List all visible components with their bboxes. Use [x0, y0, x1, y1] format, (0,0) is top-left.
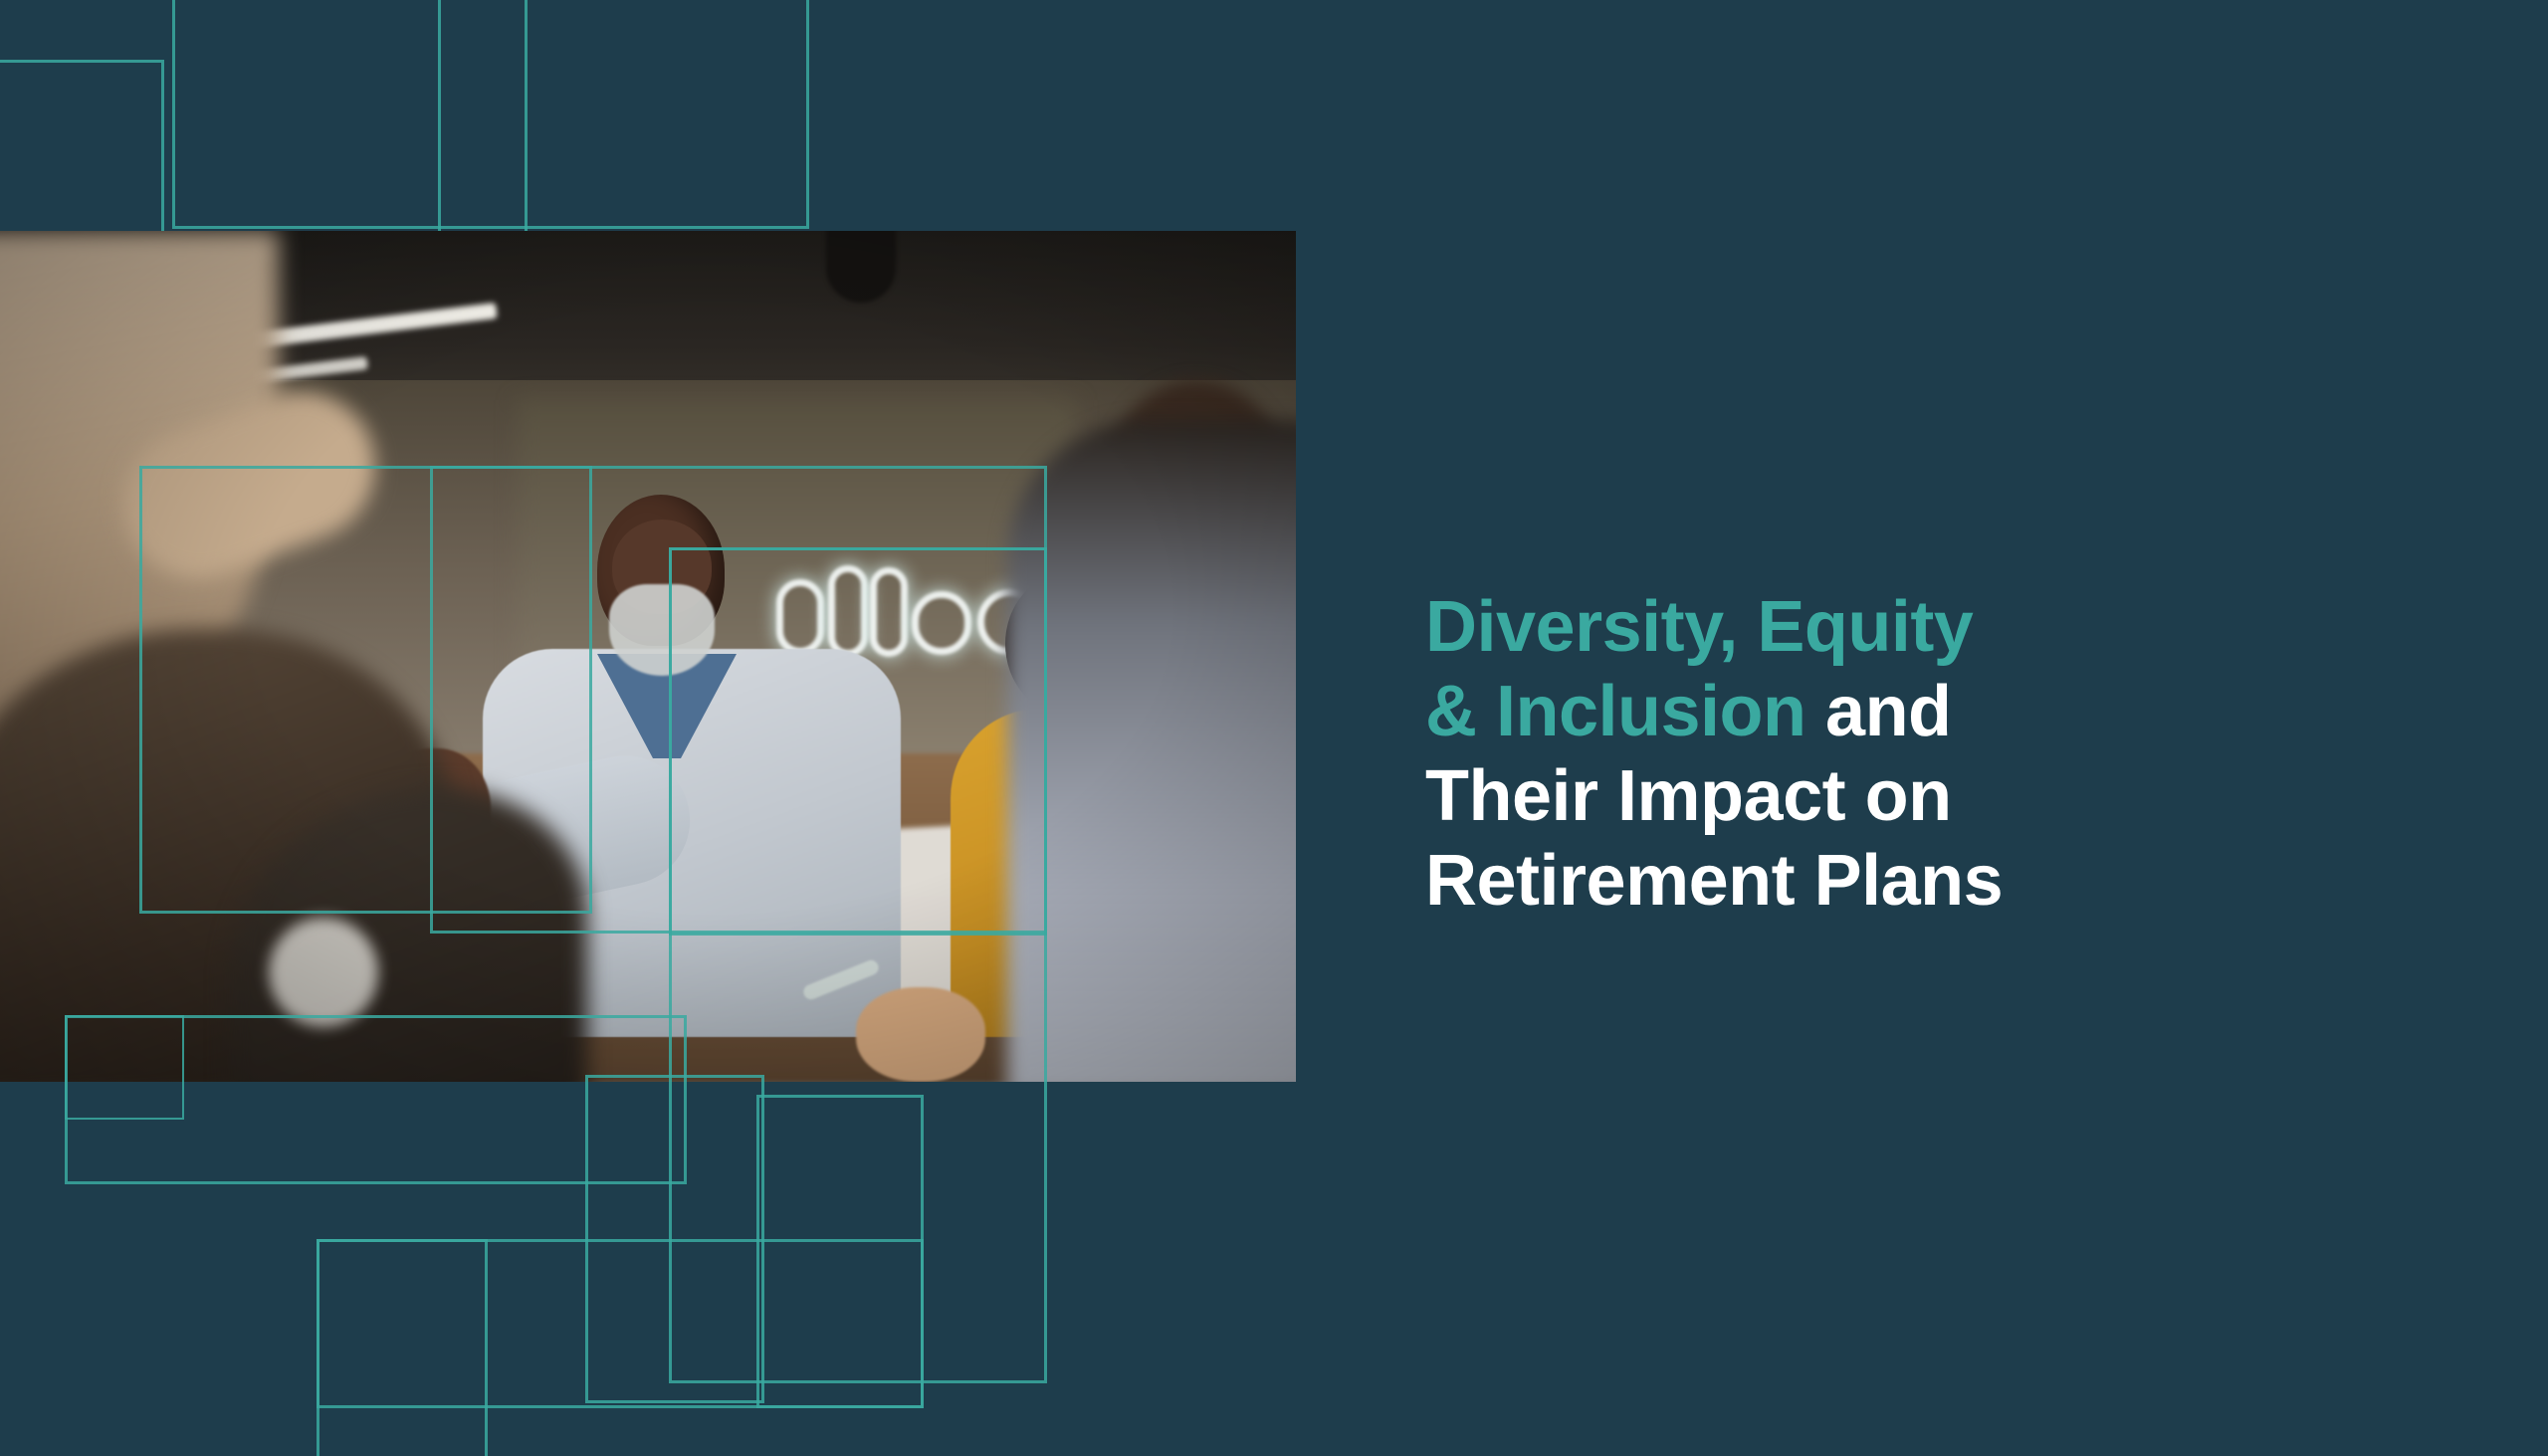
decorative-square	[438, 0, 528, 239]
slide-canvas: Diversity, Equity & Inclusion and Their …	[0, 0, 2548, 1456]
decorative-square	[756, 1095, 924, 1408]
headline-part-four: Their Impact on	[1425, 756, 1952, 836]
headline-accent-part-one: Diversity, Equity	[1425, 587, 1973, 667]
headline-accent-part-two: & Inclusion	[1425, 672, 1806, 751]
headline-part-five: Retirement Plans	[1425, 841, 2003, 921]
page-title: Diversity, Equity & Inclusion and Their …	[1425, 585, 2401, 924]
headline-part-three: and	[1806, 672, 1952, 751]
decorative-square	[317, 1239, 488, 1456]
